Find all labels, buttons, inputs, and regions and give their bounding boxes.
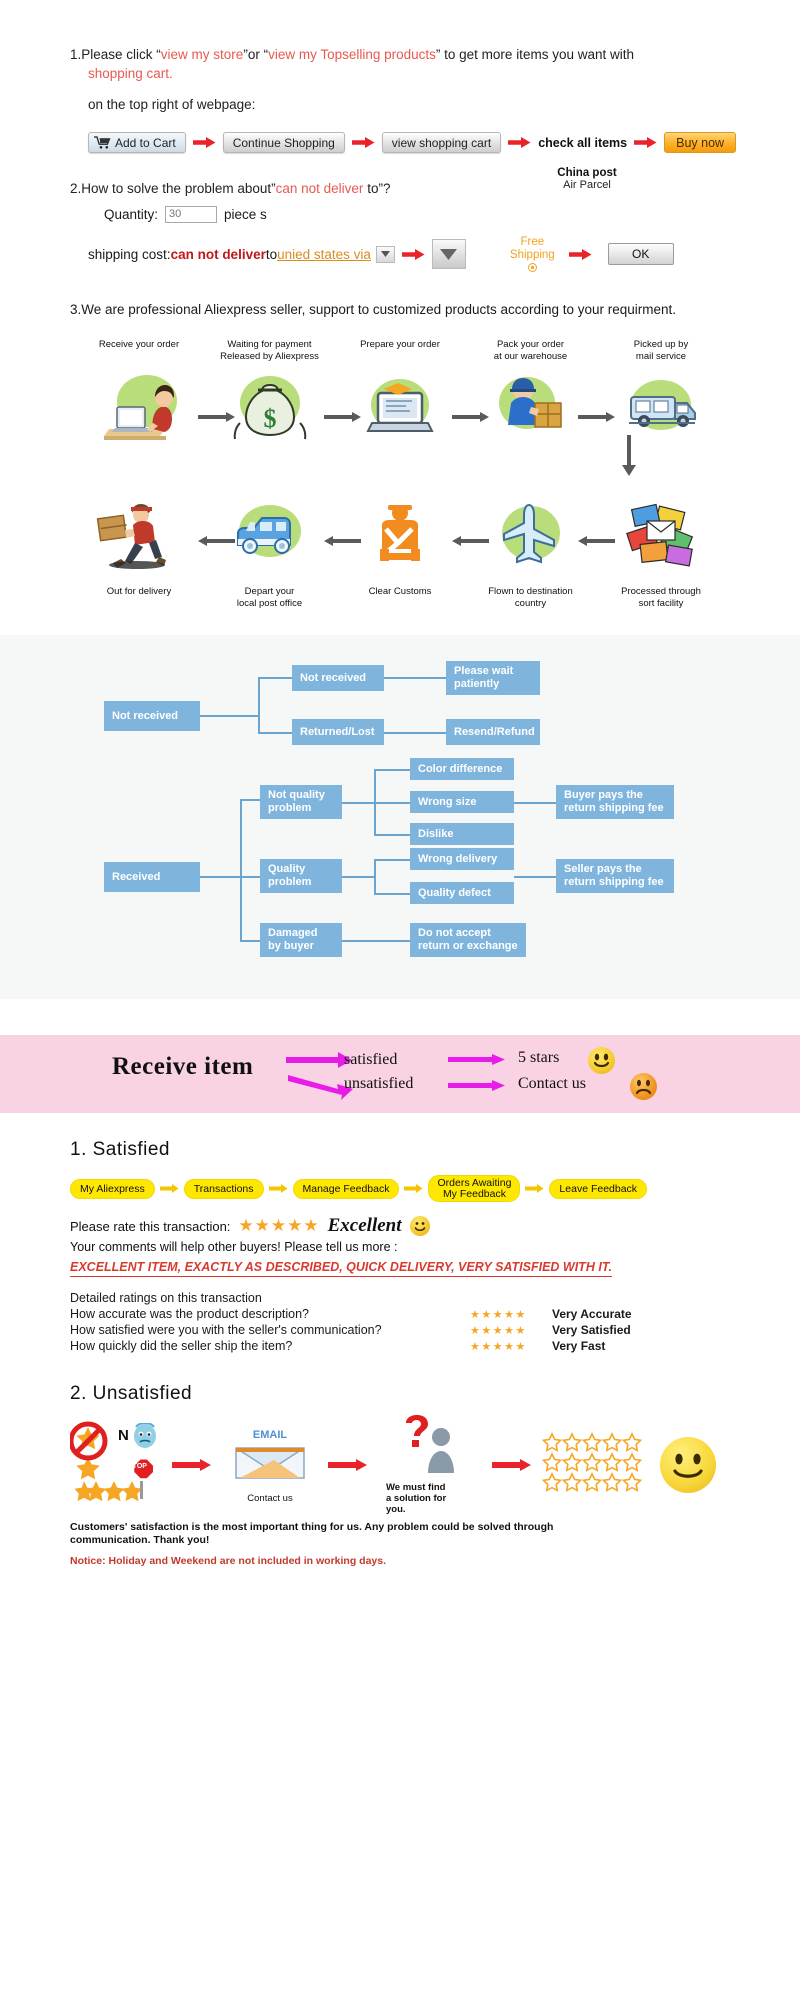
flowbox-seller-pays: Seller pays the return shipping fee <box>556 859 674 893</box>
computer-box-icon <box>341 368 459 446</box>
satisfied-section: 1. Satisfied My Aliexpress Transactions … <box>70 1139 730 1353</box>
arrow-right-icon <box>404 1183 423 1194</box>
receive-item-banner-inner: Receive item satisfied unsatisfied 5 sta… <box>70 1035 730 1113</box>
flow-arrows-bottom <box>70 535 730 547</box>
free-word: Free <box>520 236 544 248</box>
flow-connector <box>514 876 556 878</box>
rating-label: Very Fast <box>552 1339 605 1353</box>
rating-question: How quickly did the seller ship the item… <box>70 1339 470 1353</box>
delivery-flow-top-captions: Receive your order Waiting for payment R… <box>70 339 730 362</box>
flow-connector <box>374 769 412 771</box>
flow-connector <box>374 859 412 861</box>
ok-button[interactable]: OK <box>608 243 674 265</box>
money-bag-icon: $ <box>211 368 329 446</box>
return-policy-flowchart: Not received Not received Please wait pa… <box>0 635 800 999</box>
arrow-right-icon <box>492 1458 532 1472</box>
add-to-cart-label: Add to Cart <box>115 136 176 150</box>
section-2-head-b: to”? <box>363 181 390 196</box>
comments-prompt: Your comments will help other buyers! Pl… <box>70 1240 730 1254</box>
flow-connector <box>200 715 260 717</box>
flow-caption: Prepare your order <box>341 339 459 351</box>
receive-item-title: Receive item <box>112 1053 253 1081</box>
quote-mid: ”or “ <box>243 47 268 62</box>
flow-connector <box>240 799 262 801</box>
chevron-down-icon <box>440 249 457 260</box>
happy-face-icon <box>588 1047 615 1074</box>
free-shipping-label: Free Shipping <box>510 236 555 272</box>
flowbox-color-difference: Color difference <box>410 758 514 780</box>
shipping-row: shipping cost:can not deliver to unied s… <box>70 236 730 272</box>
step-my-aliexpress[interactable]: My Aliexpress <box>70 1179 155 1199</box>
rating-stars[interactable]: ★★★★★ <box>238 1216 319 1236</box>
shipping-cost-label: shipping cost: <box>88 247 171 262</box>
arrow-right-icon <box>448 1079 506 1091</box>
flow-connector <box>374 859 376 894</box>
section-3: 3.We are professional Aliexpress seller,… <box>70 302 730 317</box>
flow-caption: Waiting for payment Released by Aliexpre… <box>211 339 329 362</box>
shipping-method-dropdown[interactable] <box>432 239 466 269</box>
section-1-text-b: ” to get more items you want with <box>436 47 634 62</box>
chevron-down-icon <box>381 251 390 257</box>
section-1-line-1: 1.Please click “view my store”or “view m… <box>70 45 730 64</box>
shipping-word: Shipping <box>510 249 555 261</box>
step-leave-feedback[interactable]: Leave Feedback <box>549 1179 647 1199</box>
rating-stars[interactable]: ★★★★★ <box>470 1324 552 1337</box>
rate-prompt: Please rate this transaction: <box>70 1219 230 1234</box>
flowbox-resend-refund: Resend/Refund <box>446 719 540 745</box>
aliexpress-listing-description: 1.Please click “view my store”or “view m… <box>0 0 800 1567</box>
section-1-number: 1. <box>70 47 81 62</box>
view-my-store-link[interactable]: view my store <box>161 47 244 62</box>
flow-connector <box>384 677 446 679</box>
flow-connector <box>342 940 410 942</box>
stop-label: STOP <box>128 1463 147 1470</box>
flow-connector <box>374 802 412 804</box>
shipping-to-word: to <box>266 247 277 262</box>
detailed-rating-row: How accurate was the product description… <box>70 1307 730 1321</box>
footer-note: Customers' satisfaction is the most impo… <box>70 1521 730 1547</box>
china-post-title: China post <box>522 167 652 179</box>
satisfied-heading: 1. Satisfied <box>70 1139 730 1161</box>
flowchart-canvas: Not received Not received Please wait pa… <box>70 657 730 973</box>
view-shopping-cart-button[interactable]: view shopping cart <box>382 132 501 153</box>
no-label: N <box>118 1427 129 1444</box>
excellent-label: Excellent <box>328 1215 402 1237</box>
shipping-destination-link[interactable]: unied states via <box>277 247 371 262</box>
flow-caption: Flown to destination country <box>472 586 590 609</box>
rating-label: Very Satisfied <box>552 1323 631 1337</box>
flowbox-received-root: Received <box>104 862 200 892</box>
flow-connector <box>258 732 294 734</box>
unsatisfied-heading: 2. Unsatisfied <box>70 1383 730 1405</box>
receive-item-banner: Receive item satisfied unsatisfied 5 sta… <box>0 1035 800 1113</box>
flowbox-wrong-size: Wrong size <box>410 791 514 813</box>
person-at-computer-icon <box>80 368 198 446</box>
flow-arrows-top <box>70 411 730 423</box>
arrow-right-icon <box>172 1458 212 1472</box>
flowbox-not-received-sub: Not received <box>292 665 384 691</box>
sad-face-icon <box>630 1073 657 1100</box>
shopping-cart-icon <box>94 136 111 149</box>
unsatisfied-section: 2. Unsatisfied N <box>70 1383 730 1567</box>
section-1: 1.Please click “view my store”or “view m… <box>70 0 730 153</box>
step-transactions[interactable]: Transactions <box>184 1179 264 1199</box>
arrow-right-icon <box>448 1053 506 1065</box>
big-happy-face-icon <box>660 1437 716 1493</box>
info-dot-icon <box>528 263 537 272</box>
flowbox-buyer-pays: Buyer pays the return shipping fee <box>556 785 674 819</box>
buyer-comment-text: EXCELLENT ITEM, EXACTLY AS DESCRIBED, QU… <box>70 1260 612 1277</box>
flowbox-quality-defect: Quality defect <box>410 882 514 904</box>
star-grid <box>542 1432 654 1499</box>
quantity-row: Quantity: 30 piece s <box>70 206 730 223</box>
section-2: 2.How to solve the problem about”can not… <box>70 179 730 272</box>
arrow-right-icon <box>160 1183 179 1194</box>
section-1-text-a: Please click <box>81 47 156 62</box>
flowbox-returned-lost: Returned/Lost <box>292 719 384 745</box>
rate-transaction-row: Please rate this transaction: ★★★★★ Exce… <box>70 1215 730 1237</box>
flow-connector <box>514 802 556 804</box>
flow-arrow-down <box>616 435 646 477</box>
rating-question: How accurate was the product description… <box>70 1307 470 1321</box>
satisfied-label: satisfied <box>344 1051 397 1069</box>
flow-connector <box>240 940 262 942</box>
flow-connector <box>258 677 260 733</box>
flow-connector <box>342 876 376 878</box>
feedback-steps-row: My Aliexpress Transactions Manage Feedba… <box>70 1175 730 1202</box>
section-3-number: 3. <box>70 302 81 317</box>
arrow-right-icon <box>508 136 531 149</box>
arrow-right-icon <box>634 136 657 149</box>
solution-line-2: a solution for <box>386 1493 482 1504</box>
add-to-cart-button[interactable]: Add to Cart <box>88 132 186 153</box>
flowbox-not-quality-problem: Not quality problem <box>260 785 342 819</box>
footer-line-2: communication. Thank you! <box>70 1534 730 1547</box>
detailed-rating-row: How quickly did the seller ship the item… <box>70 1339 730 1353</box>
arrow-right-icon <box>193 136 216 149</box>
view-topselling-link[interactable]: view my Topselling products <box>268 47 436 62</box>
rating-stars[interactable]: ★★★★★ <box>470 1340 552 1353</box>
continue-shopping-button[interactable]: Continue Shopping <box>223 132 345 153</box>
worried-face-icon <box>132 1423 158 1455</box>
flow-connector <box>258 677 294 679</box>
section-2-head-a: How to solve the problem about” <box>81 181 275 196</box>
step-orders-awaiting-feedback[interactable]: Orders Awaiting My Feedback <box>428 1175 520 1202</box>
flow-connector <box>384 732 446 734</box>
shipping-cannot-deliver: can not deliver <box>171 247 266 262</box>
contact-us-caption: Contact us <box>222 1493 318 1504</box>
happy-face-icon <box>410 1216 430 1236</box>
shopping-cart-text: shopping cart. <box>70 64 730 83</box>
arrow-right-icon <box>328 1458 368 1472</box>
flowbox-dislike: Dislike <box>410 823 514 845</box>
flowbox-not-received-root: Not received <box>104 701 200 731</box>
footer-notice: Notice: Holiday and Weekend are not incl… <box>70 1555 730 1567</box>
solution-line-3: you. <box>386 1504 482 1515</box>
air-parcel-title: Air Parcel <box>522 179 652 191</box>
flowbox-wrong-delivery: Wrong delivery <box>410 848 514 870</box>
delivery-flow-bottom-captions: Out for delivery Depart your local post … <box>70 586 730 609</box>
flow-connector <box>374 893 412 895</box>
arrow-right-icon <box>269 1183 288 1194</box>
flow-connector <box>374 834 412 836</box>
piece-label: piece s <box>224 207 267 222</box>
detailed-ratings-title: Detailed ratings on this transaction <box>70 1291 730 1305</box>
contact-us-label: Contact us <box>518 1075 586 1093</box>
flow-connector <box>240 799 242 941</box>
quantity-label: Quantity: <box>104 207 158 222</box>
step-manage-feedback[interactable]: Manage Feedback <box>293 1179 400 1199</box>
arrow-right-icon <box>402 248 425 261</box>
contact-us-group: EMAIL Contact us <box>222 1426 318 1504</box>
flowbox-no-return-exchange: Do not accept return or exchange <box>410 923 526 957</box>
cart-button-row: Add to Cart Continue Shopping view shopp… <box>70 132 730 153</box>
quantity-input[interactable]: 30 <box>165 206 217 223</box>
flow-connector <box>200 876 242 878</box>
svg-text:EMAIL: EMAIL <box>253 1429 288 1441</box>
arrow-right-icon <box>352 136 375 149</box>
flow-caption: Pack your order at our warehouse <box>472 339 590 362</box>
solution-line-1: We must find <box>386 1482 482 1493</box>
rating-label: Very Accurate <box>552 1307 632 1321</box>
cannot-deliver-text: can not deliver <box>276 181 364 196</box>
flow-connector <box>240 876 262 878</box>
section-2-number: 2. <box>70 181 81 196</box>
detailed-rating-row: How satisfied were you with the seller's… <box>70 1323 730 1337</box>
arrow-right-icon <box>525 1183 544 1194</box>
footer-line-1: Customers' satisfaction is the most impo… <box>70 1521 730 1534</box>
flow-caption: Depart your local post office <box>211 586 329 609</box>
no-stars-group: N STOP <box>70 1421 162 1510</box>
flow-caption: Clear Customs <box>341 586 459 598</box>
solution-group: We must find a solution for you. <box>378 1415 482 1515</box>
china-post-label: China post Air Parcel <box>522 167 652 191</box>
flowbox-quality-problem: Quality problem <box>260 859 342 893</box>
worker-package-icon <box>472 368 590 446</box>
check-all-items-label[interactable]: check all items <box>538 136 627 150</box>
rating-stars[interactable]: ★★★★★ <box>470 1308 552 1321</box>
email-envelope-icon: EMAIL <box>226 1426 314 1488</box>
buy-now-button[interactable]: Buy now <box>664 132 736 153</box>
flow-caption: Processed through sort facility <box>602 586 720 609</box>
flow-connector <box>342 802 376 804</box>
unsatisfied-flow-row: N STOP EMAIL <box>70 1421 730 1509</box>
arrow-right-icon <box>569 248 592 261</box>
rating-question: How satisfied were you with the seller's… <box>70 1323 470 1337</box>
delivery-flow-diagram: Receive your order Waiting for payment R… <box>70 339 730 619</box>
country-dropdown-toggle[interactable] <box>376 246 395 263</box>
flow-caption: Out for delivery <box>80 586 198 598</box>
unsatisfied-label: unsatisfied <box>344 1075 413 1093</box>
flowbox-damaged-by-buyer: Damaged by buyer <box>260 923 342 957</box>
section-3-text: We are professional Aliexpress seller, s… <box>81 302 676 317</box>
top-right-hint: on the top right of webpage: <box>70 95 730 114</box>
question-mark-person-icon <box>386 1415 472 1477</box>
five-stars-label: 5 stars <box>518 1049 559 1067</box>
flowbox-please-wait: Please wait patiently <box>446 661 540 695</box>
flow-caption: Receive your order <box>80 339 198 351</box>
flow-caption: Picked up by mail service <box>602 339 720 362</box>
